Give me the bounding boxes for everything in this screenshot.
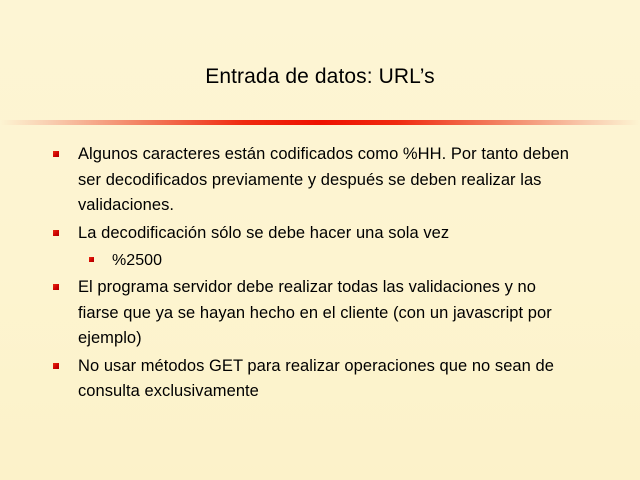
bullet-item: No usar métodos GET para realizar operac… [0,354,640,405]
bullet-item-text: El programa servidor debe realizar todas… [78,275,576,352]
bullet-item: Algunos caracteres están codificados com… [0,142,640,219]
bullet-item: La decodificación sólo se debe hacer una… [0,221,640,247]
sub-bullet-item-text: %2500 [112,248,576,273]
slide-title-text: Entrada de datos: URL’s [205,64,435,90]
slide-title: Entrada de datos: URL’s [0,64,640,90]
bullet-square-icon [53,284,59,290]
title-divider-rule [0,120,640,125]
slide-body: Algunos caracteres están codificados com… [0,142,640,407]
bullet-item-text: La decodificación sólo se debe hacer una… [78,221,576,247]
bullet-square-icon [53,151,59,157]
bullet-item: El programa servidor debe realizar todas… [0,275,640,352]
bullet-square-icon [53,363,59,369]
presentation-slide: Entrada de datos: URL’s Algunos caracter… [0,0,640,480]
bullet-square-icon [53,230,59,236]
sub-bullet-item: %2500 [0,248,640,273]
bullet-item-text: Algunos caracteres están codificados com… [78,142,576,219]
bullet-item-text: No usar métodos GET para realizar operac… [78,354,576,405]
bullet-square-icon [89,257,94,262]
